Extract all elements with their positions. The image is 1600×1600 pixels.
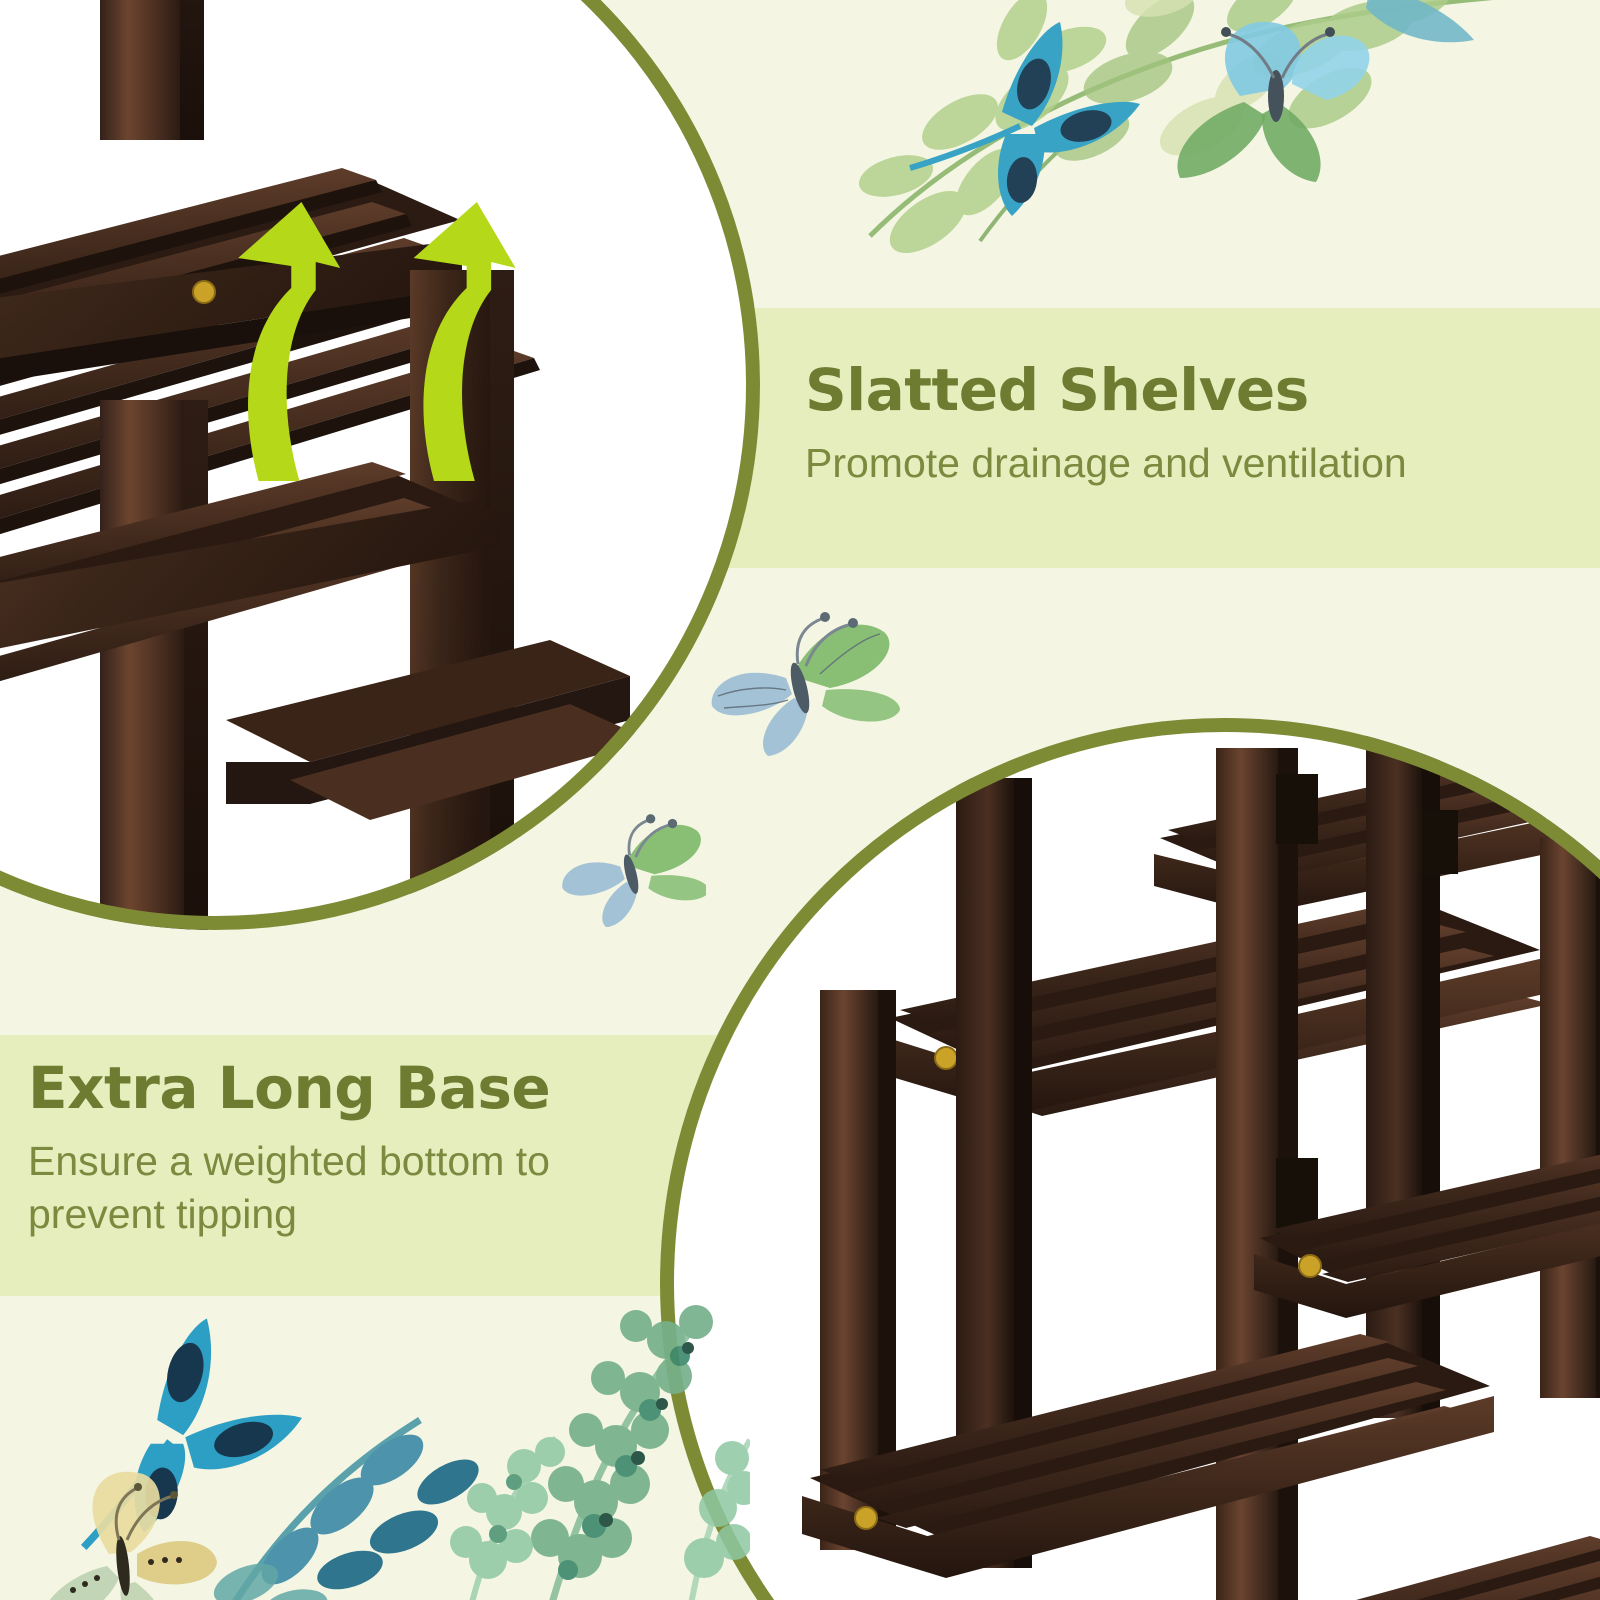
feature-title-base: Extra Long Base	[28, 1058, 688, 1119]
feature-subtitle-slatted: Promote drainage and ventilation	[805, 437, 1565, 489]
long-base-stand-illustration	[660, 718, 1600, 1600]
blue-leaf-flower-bottom	[84, 1318, 302, 1547]
feature-slatted-shelves: Slatted Shelves Promote drainage and ven…	[805, 360, 1565, 490]
blue-leaf-flower-top	[910, 22, 1140, 216]
feature-extra-long-base: Extra Long Base Ensure a weighted bottom…	[28, 1058, 688, 1240]
blue-butterfly-top-right	[1177, 22, 1369, 182]
ventilation-arrows	[232, 196, 582, 486]
feature-subtitle-base: Ensure a weighted bottom to prevent tipp…	[28, 1135, 688, 1240]
teal-leaf-branch-bottom	[208, 1420, 486, 1600]
leaf-sprig-top-right	[810, 0, 1600, 286]
fern-sprig-bottom	[0, 1270, 750, 1600]
photo-long-base	[660, 718, 1600, 1600]
product-feature-banner: Slatted Shelves Promote drainage and ven…	[0, 0, 1600, 1600]
fern-secondary	[450, 1437, 565, 1600]
feature-title-slatted: Slatted Shelves	[805, 360, 1565, 421]
yellow-butterfly-bottom-left	[40, 1472, 217, 1600]
